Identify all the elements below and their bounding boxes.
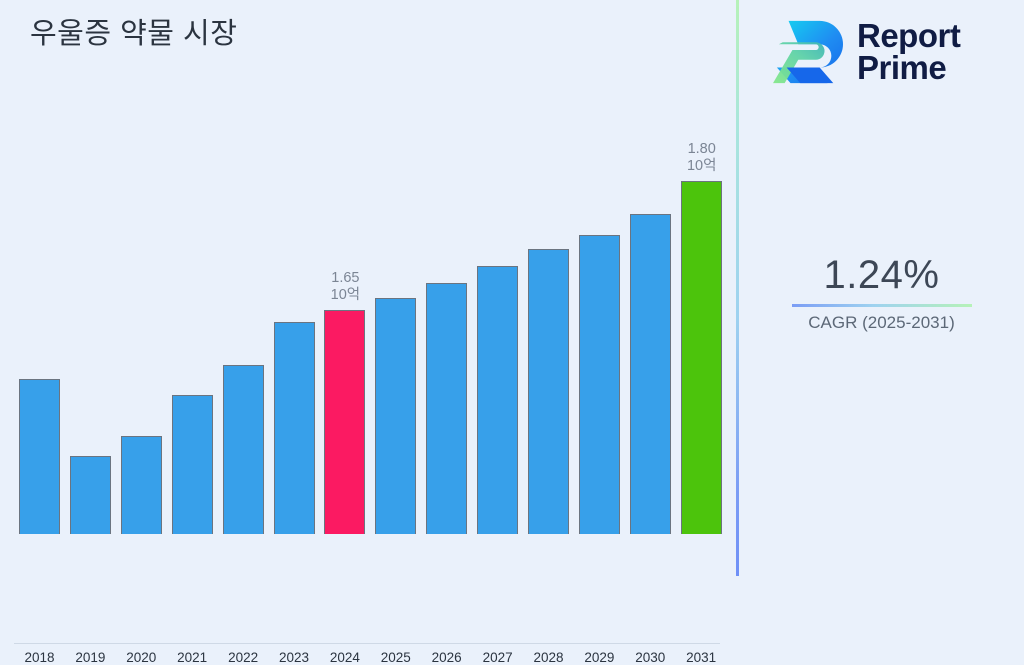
- bar-rect-2029[interactable]: [579, 235, 620, 534]
- bar-rect-2019[interactable]: [70, 456, 111, 534]
- report-prime-logo: Report Prime: [769, 12, 1014, 92]
- bar-2029[interactable]: [579, 1, 620, 534]
- bar-rect-2023[interactable]: [274, 322, 315, 534]
- brand-panel: Report Prime 1.24% CAGR (2025-2031): [739, 0, 1024, 576]
- cagr-block: 1.24% CAGR (2025-2031): [739, 252, 1024, 334]
- logo-line-1: Report: [857, 20, 960, 52]
- bar-2019[interactable]: [70, 1, 111, 534]
- report-prime-r-mark-icon: [769, 17, 847, 87]
- bar-2024[interactable]: 1.65 10억: [324, 1, 365, 534]
- bar-2018[interactable]: [19, 1, 60, 534]
- bar-2022[interactable]: [223, 1, 264, 534]
- bar-rect-2022[interactable]: [223, 365, 264, 534]
- bar-2030[interactable]: [630, 1, 671, 534]
- bar-2025[interactable]: [375, 1, 416, 534]
- bar-rect-2021[interactable]: [172, 395, 213, 534]
- bar-rect-2028[interactable]: [528, 249, 569, 534]
- bar-rect-2031[interactable]: [681, 181, 722, 534]
- bar-rect-2020[interactable]: [121, 436, 162, 534]
- cagr-value: 1.24%: [739, 252, 1024, 298]
- logo-wordmark: Report Prime: [857, 20, 960, 84]
- bar-value-label-2031: 1.80 10억: [657, 141, 747, 175]
- x-axis-line: [14, 643, 720, 644]
- cagr-divider-rule: [792, 304, 972, 307]
- bar-2027[interactable]: [477, 1, 518, 534]
- chart-panel: 우울증 약물 시장 1.65 10억1.80 10억 2018201920202…: [0, 0, 736, 576]
- bar-2026[interactable]: [426, 1, 467, 534]
- bar-rect-2026[interactable]: [426, 283, 467, 534]
- bar-rect-2024[interactable]: [324, 310, 365, 534]
- x-tick-2031: 2031: [671, 650, 731, 665]
- bar-2023[interactable]: [274, 1, 315, 534]
- cagr-caption: CAGR (2025-2031): [739, 312, 1024, 334]
- bar-2028[interactable]: [528, 1, 569, 534]
- bar-rect-2027[interactable]: [477, 266, 518, 534]
- bar-2021[interactable]: [172, 1, 213, 534]
- bar-2020[interactable]: [121, 1, 162, 534]
- bar-rect-2018[interactable]: [19, 379, 60, 534]
- bar-rect-2025[interactable]: [375, 298, 416, 534]
- logo-line-2: Prime: [857, 52, 960, 84]
- bar-2031[interactable]: 1.80 10억: [681, 1, 722, 534]
- bar-chart-plot-area: 1.65 10억1.80 10억 20182019202020212022202…: [0, 110, 736, 534]
- bar-rect-2030[interactable]: [630, 214, 671, 534]
